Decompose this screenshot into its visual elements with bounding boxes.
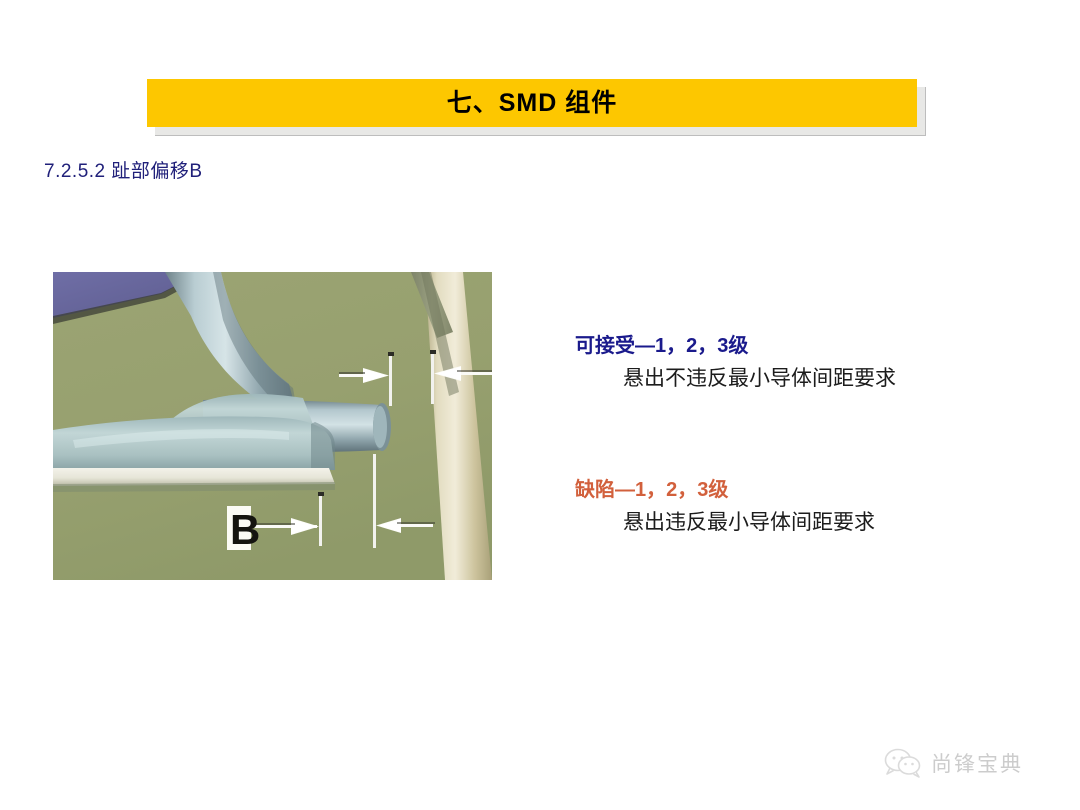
figure-illustration: B — [53, 272, 492, 580]
callout-acceptable-body: 悬出不违反最小导体间距要求 — [623, 365, 995, 392]
dimension-label-b: B — [230, 506, 260, 553]
callout-acceptable: 可接受—1，2，3级 悬出不违反最小导体间距要求 — [575, 334, 995, 392]
title-banner-container: 七、SMD 组件 — [147, 79, 917, 127]
callout-defect-body: 悬出违反最小导体间距要求 — [623, 509, 995, 536]
page-title: 七、SMD 组件 — [447, 91, 618, 116]
wechat-icon — [884, 748, 922, 778]
callout-defect: 缺陷—1，2，3级 悬出违反最小导体间距要求 — [575, 478, 995, 536]
section-subtitle: 7.2.5.2 趾部偏移B — [44, 156, 203, 183]
figure-toe-offset-photo: B — [53, 272, 492, 580]
title-banner: 七、SMD 组件 — [147, 79, 917, 127]
watermark-text: 尚锋宝典 — [931, 748, 1023, 778]
watermark: 尚锋宝典 — [884, 748, 1023, 778]
callout-acceptable-heading: 可接受—1，2，3级 — [575, 334, 995, 359]
callout-defect-heading: 缺陷—1，2，3级 — [575, 478, 995, 503]
